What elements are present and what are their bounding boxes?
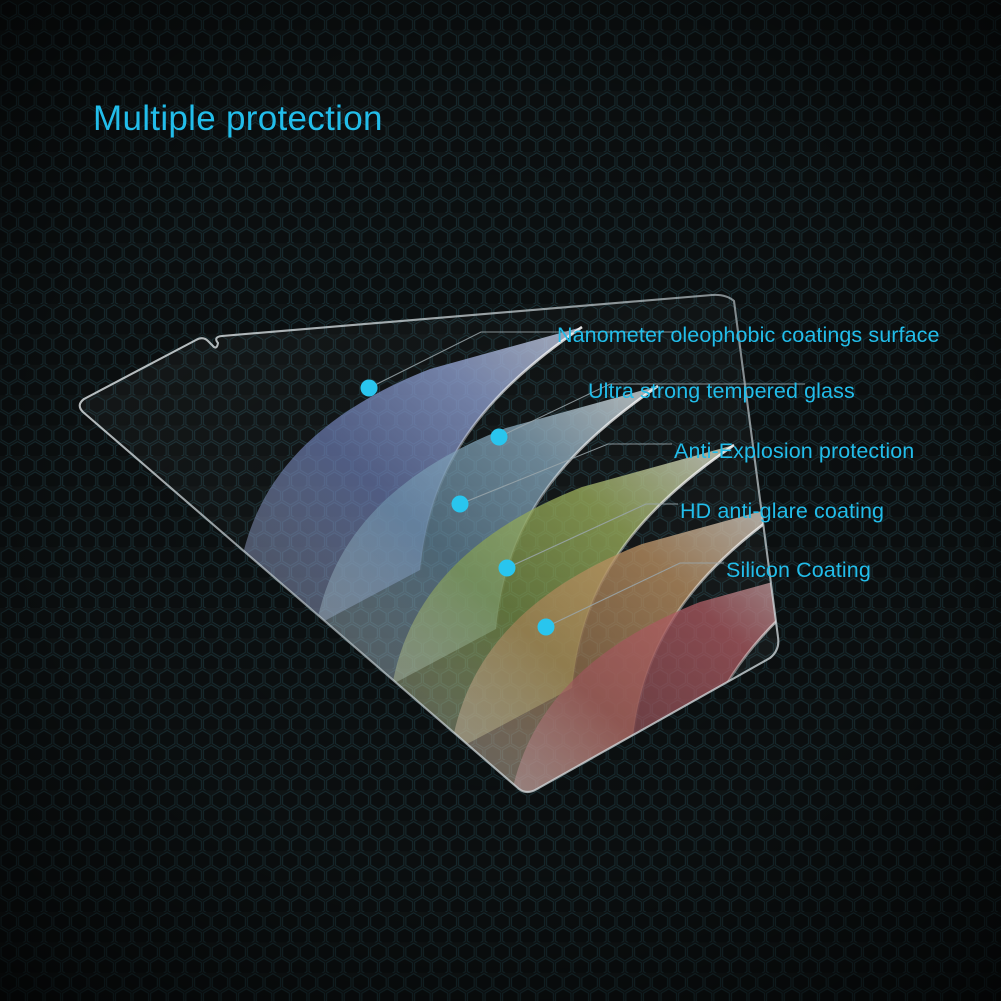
page-title: Multiple protection bbox=[93, 101, 383, 136]
layer-label-2: Ultra strong tempered glass bbox=[588, 381, 855, 403]
infographic-canvas: Multiple protection Nanometer oleophobic… bbox=[0, 0, 1001, 1001]
callout-dot-2 bbox=[491, 429, 508, 446]
callout-dot-3 bbox=[452, 496, 469, 513]
callout-dot-4 bbox=[499, 560, 516, 577]
layer-label-4: HD anti-glare coating bbox=[680, 501, 884, 523]
callout-dot-1 bbox=[361, 380, 378, 397]
callout-dot-5 bbox=[538, 619, 555, 636]
layer-label-1: Nanometer oleophobic coatings surface bbox=[557, 325, 940, 347]
layer-label-5: Silicon Coating bbox=[726, 560, 871, 582]
layer-label-3: Anti-Explosion protection bbox=[674, 441, 914, 463]
